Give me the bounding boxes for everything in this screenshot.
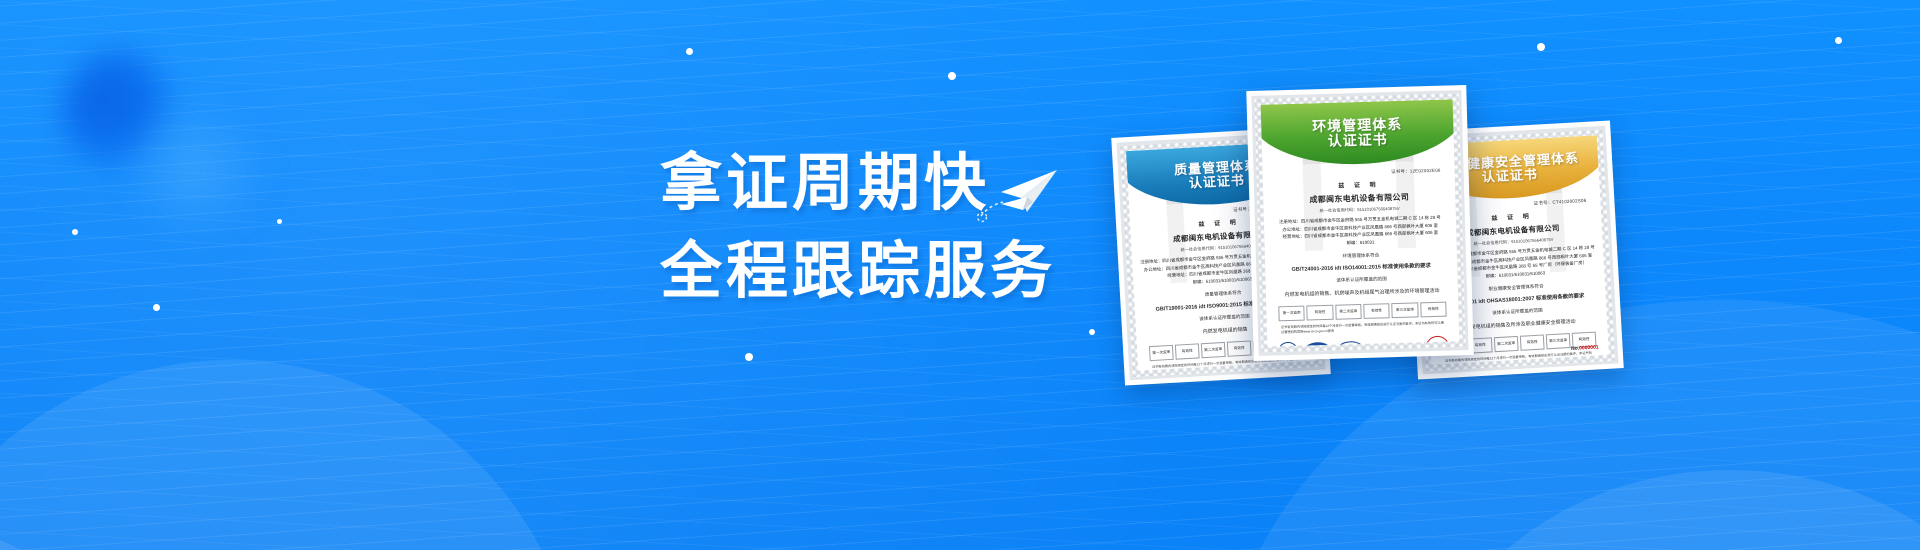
sparkle-dot	[686, 48, 693, 55]
system-label: 环境管理体系符合	[1273, 250, 1449, 261]
audit-box: 第一次监审	[1149, 345, 1174, 361]
audit-box: 有效性	[1227, 340, 1252, 356]
sparkle-dot	[1089, 329, 1095, 335]
audit-box: 第三次监审	[1392, 302, 1419, 318]
certificate-number-value: 0000001	[1579, 344, 1599, 351]
standard-code: GB/T24001-2016 idt ISO14001:2015 标准使用条款的…	[1273, 260, 1449, 273]
audit-box: 第二次监审	[1335, 304, 1362, 320]
sparkle-dot	[1537, 43, 1545, 51]
sparkle-dot	[277, 219, 282, 224]
cnas-logo-icon: CNAS	[1337, 341, 1365, 346]
decor-circle-bottom-left-1	[0, 360, 580, 550]
iaf-logo-icon: IAF	[1304, 342, 1332, 346]
audit-box: 有效性	[1307, 305, 1334, 321]
scope-label: 该体系认证所覆盖的范围	[1274, 274, 1450, 285]
paper-plane-icon	[975, 158, 1065, 233]
audit-box: 有效性	[1363, 303, 1390, 319]
sparkle-dot	[72, 229, 78, 235]
audit-box: 第三次监审	[1546, 333, 1571, 349]
audit-box: 第二次监审	[1201, 342, 1226, 358]
certificate-header-banner: 环境管理体系 认证证书	[1261, 99, 1460, 167]
audit-box: 第一次监审	[1278, 305, 1305, 321]
audit-box: 第二次监审	[1494, 336, 1519, 352]
certify-label: 兹 证 明	[1271, 178, 1447, 192]
sparkle-dot	[153, 304, 160, 311]
audit-box: 有效性	[1175, 343, 1200, 359]
certificate-environment[interactable]: 环境管理体系 认证证书 证书号：12E02002E06 兹 证 明 成都闽东电机…	[1246, 85, 1473, 361]
sparkle-dot	[948, 72, 956, 80]
certificate-title-line-2: 认证证书	[1189, 174, 1246, 191]
certificate-title-line-2: 认证证书	[1482, 168, 1539, 185]
red-seal-icon: 章	[1579, 364, 1605, 365]
headline-line-2: 全程跟踪服务	[660, 228, 1056, 316]
sparkle-dot	[745, 353, 753, 361]
certificate-title-line-2: 认证证书	[1327, 132, 1387, 149]
blue-glow-decoration	[120, 95, 270, 245]
red-seal-icon: 章	[1423, 334, 1452, 347]
scope-text: 内燃发电机组的销售、机房噪声及机组尾气治理所涉及的环境管理活动	[1274, 286, 1450, 298]
hero-banner: 拿证周期快 全程跟踪服务 质量管理体系 认证证书 证书号：CT01	[0, 0, 1920, 550]
red-seal-icon: 章	[1284, 370, 1312, 371]
china-certification-icon: 周	[1278, 342, 1300, 347]
sparkle-dot	[1835, 37, 1842, 44]
accreditation-logos: 周 IAF CNAS 中国认可 国际互认 管理体系 CNAS-C174-M 章	[1275, 336, 1452, 347]
audit-box: 有效性	[1520, 334, 1545, 350]
certificate-stack: 质量管理体系 认证证书 证书号：CT0190200522026 兹 证 明 成都…	[1118, 88, 1678, 388]
company-name: 成都闽东电机设备有限公司	[1271, 191, 1447, 207]
audit-box: 有效性	[1420, 301, 1447, 317]
certificate-serial: 证书号：12E02002E06	[1271, 168, 1447, 179]
